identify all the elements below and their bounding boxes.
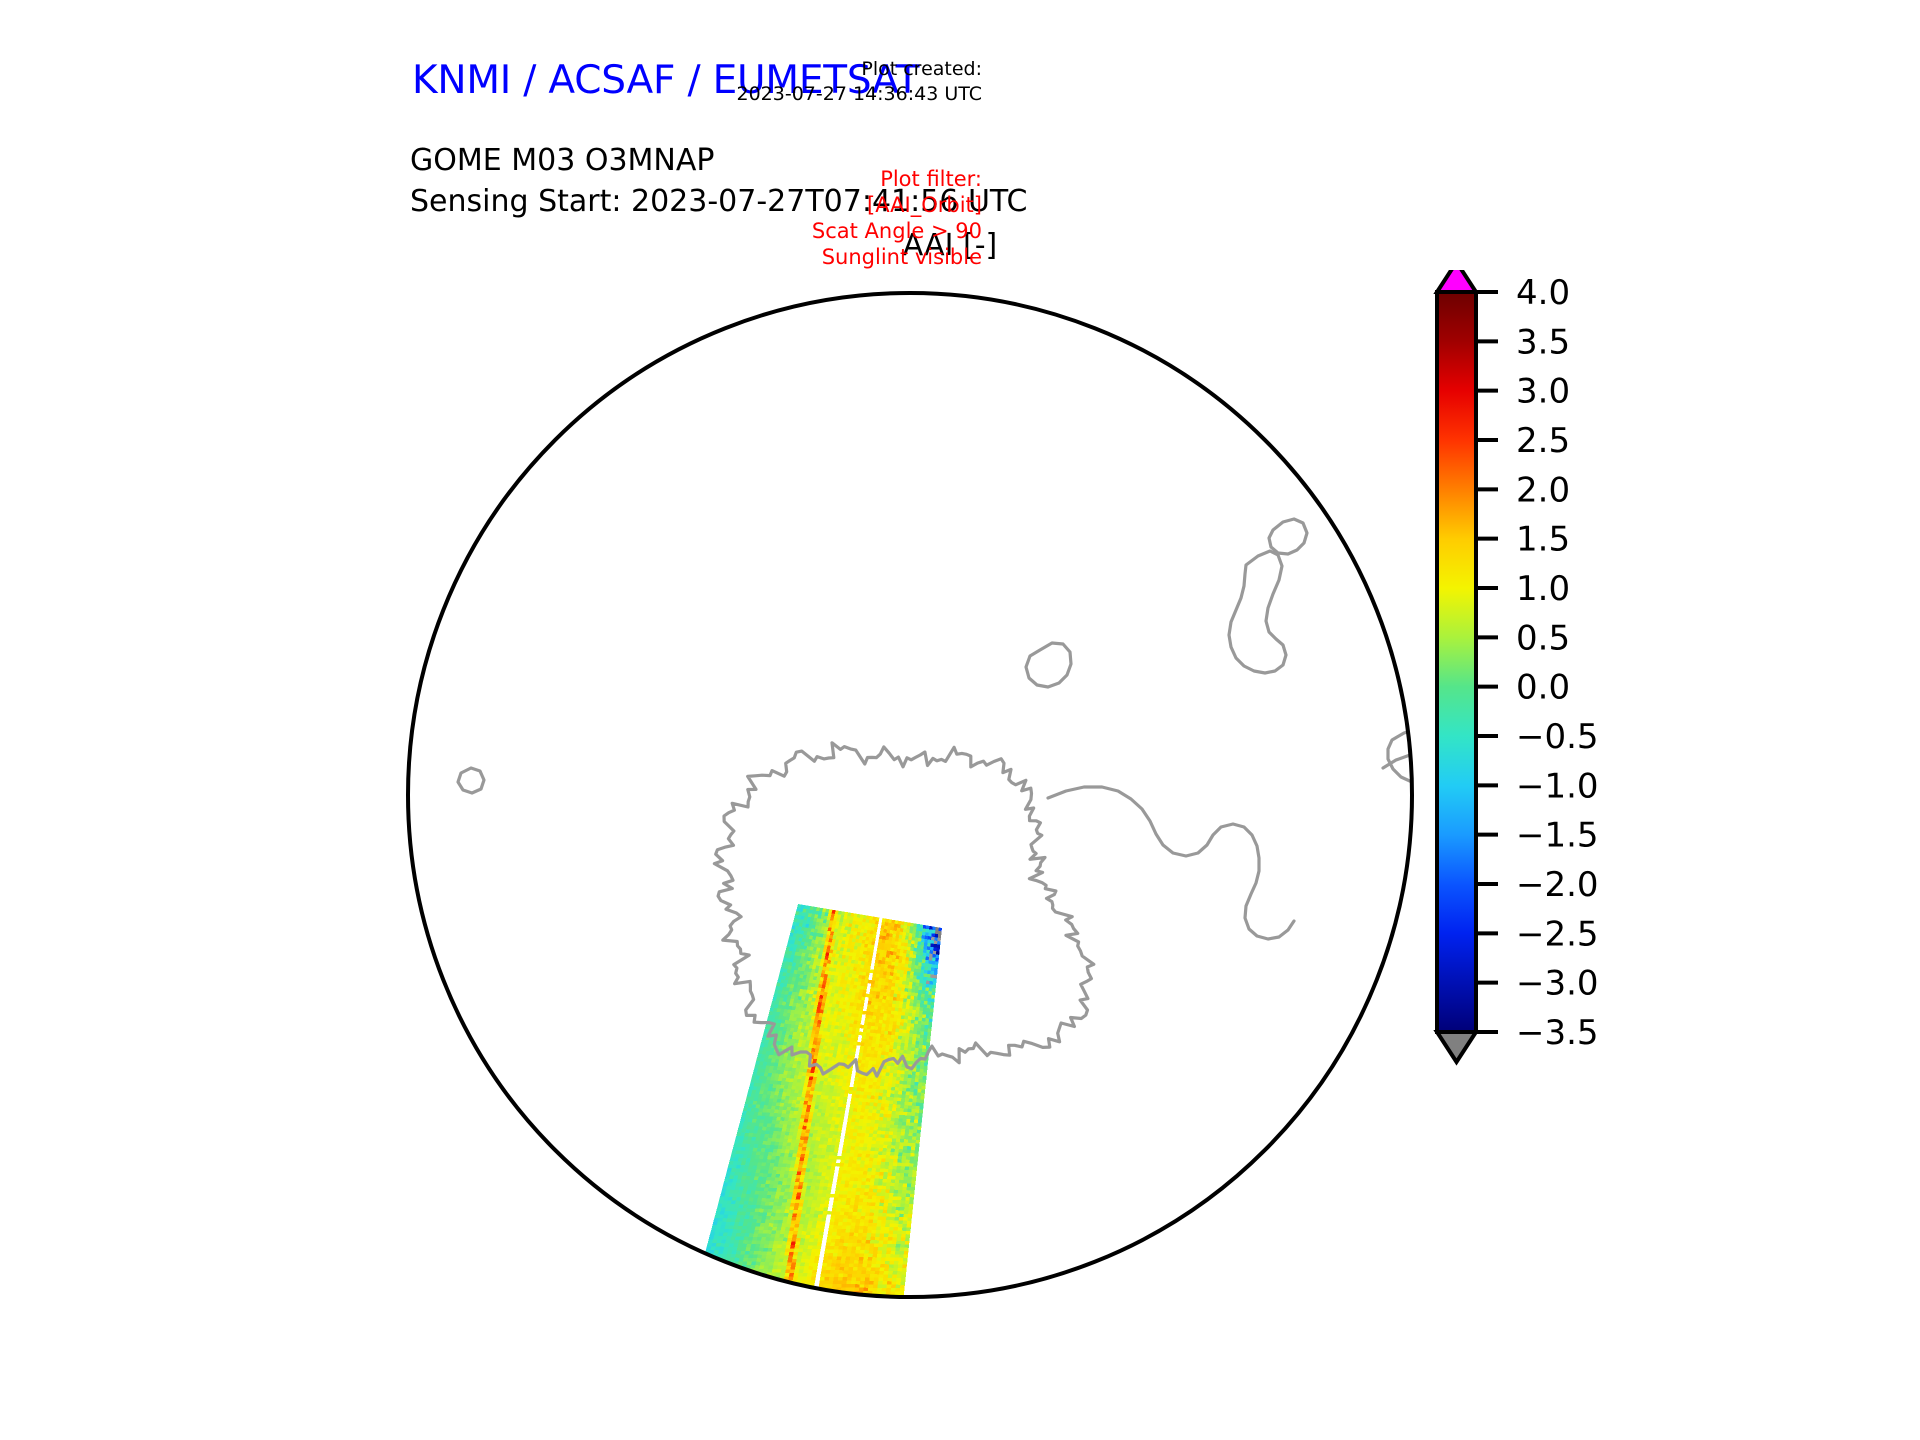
colorbar-tick-label: −2.0 xyxy=(1516,865,1599,905)
plot-filter-line-0: [AAI_Orbit] xyxy=(812,192,982,218)
plot-page: KNMI / ACSAF / EUMETSAT Plot created: 20… xyxy=(0,0,1920,1440)
plot-created-block: Plot created: 2023-07-27 14:36:43 UTC xyxy=(737,57,983,107)
plot-created-label: Plot created: xyxy=(737,57,983,82)
colorbar-gradient-body xyxy=(1437,292,1476,1032)
colorbar-under-arrow xyxy=(1437,1032,1476,1062)
plot-created-value: 2023-07-27 14:36:43 UTC xyxy=(737,82,983,107)
colorbar-tick-label: 2.5 xyxy=(1516,421,1570,461)
colorbar-tick-label: −1.5 xyxy=(1516,816,1599,856)
colorbar-tick-label: −3.5 xyxy=(1516,1013,1599,1053)
colorbar-tick-label: 3.0 xyxy=(1516,372,1570,412)
colorbar-tick-label: −1.0 xyxy=(1516,766,1599,806)
colorbar-tick-label: −3.0 xyxy=(1516,964,1599,1004)
colorbar-tick-label: 1.0 xyxy=(1516,569,1570,609)
colorbar-tick-label: 0.0 xyxy=(1516,668,1570,708)
colorbar-tick-label: 3.5 xyxy=(1516,322,1570,362)
colorbar-tick-label: 1.5 xyxy=(1516,520,1570,560)
plot-filter-line-2: Sunglint visible xyxy=(812,244,982,270)
colorbar-tick-label: 0.5 xyxy=(1516,618,1570,658)
colorbar-tick-label: −0.5 xyxy=(1516,717,1599,757)
colorbar: 4.03.53.02.52.01.51.00.50.0−0.5−1.0−1.5−… xyxy=(1420,270,1840,1340)
colorbar-tick-label: 2.0 xyxy=(1516,470,1570,510)
plot-filter-title: Plot filter: xyxy=(812,166,982,192)
plot-filter-block: Plot filter: [AAI_Orbit] Scat Angle > 90… xyxy=(812,166,982,270)
colorbar-tick-label: −2.5 xyxy=(1516,914,1599,954)
colorbar-tick-label: 4.0 xyxy=(1516,273,1570,313)
polar-map xyxy=(380,270,1440,1330)
colorbar-over-arrow xyxy=(1437,270,1476,292)
plot-filter-line-1: Scat Angle > 90 xyxy=(812,218,982,244)
colorbar-ticks: 4.03.53.02.52.01.51.00.50.0−0.5−1.0−1.5−… xyxy=(1476,273,1599,1053)
